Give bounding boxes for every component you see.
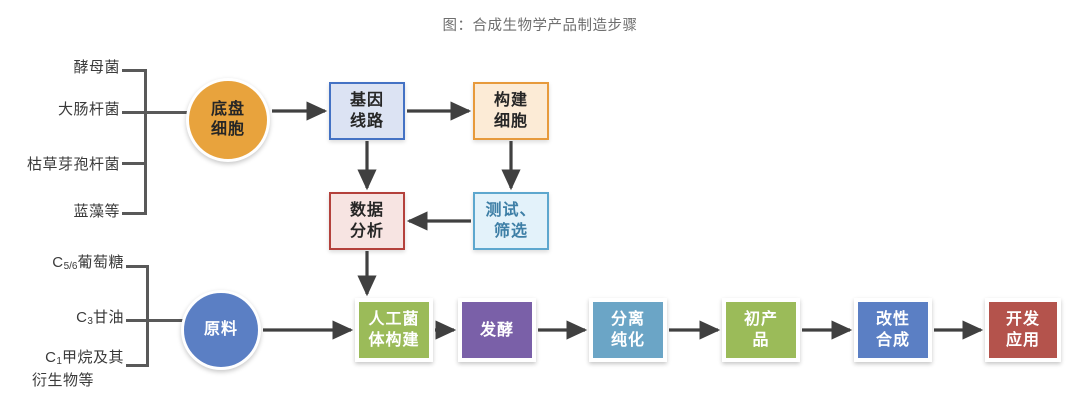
node-modification[interactable]: 改性 合成 — [854, 298, 932, 362]
input-label-text: 酵母菌 — [73, 59, 120, 76]
input-label-yeast: 酵母菌 — [10, 58, 120, 77]
node-label-line2: 体构建 — [368, 330, 419, 351]
node-label-line1: 分离 — [611, 309, 645, 330]
node-label-line2: 细胞 — [494, 111, 528, 132]
input-label-text: 枯草芽孢杆菌 — [27, 156, 120, 173]
node-gene-circuit[interactable]: 基因 线路 — [329, 82, 405, 140]
bracket-spine-cells — [144, 69, 147, 215]
node-label: 发酵 — [480, 320, 514, 341]
node-label-line2: 应用 — [1006, 330, 1040, 351]
node-label-line1: 初产 — [744, 309, 778, 330]
input-label-prefix: C — [76, 309, 87, 326]
input-label-text-line2: 衍生物等 — [32, 372, 94, 389]
node-label-line2: 细胞 — [211, 120, 245, 140]
node-label-line1: 基因 — [350, 90, 384, 111]
node-label-line2: 线路 — [350, 111, 384, 132]
bracket-trunk-cells — [144, 111, 189, 114]
input-label-glucose: C5/6葡萄糖 — [12, 253, 124, 276]
node-label-line2: 纯化 — [611, 330, 645, 351]
page-title: 图：合成生物学产品制造步骤 — [0, 14, 1080, 35]
bracket-spine-feedstock — [146, 265, 149, 367]
node-separation[interactable]: 分离 纯化 — [589, 298, 667, 362]
node-label-line1: 数据 — [350, 200, 384, 221]
node-label-line1: 底盘 — [211, 100, 245, 120]
node-build-cell[interactable]: 构建 细胞 — [473, 82, 549, 140]
node-label-line2: 筛选 — [485, 221, 536, 242]
node-label-line2: 分析 — [350, 221, 384, 242]
diagram-canvas: 图：合成生物学产品制造步骤 酵母菌 大肠杆菌 枯草芽孢杆菌 蓝藻等 C5/6葡萄… — [0, 0, 1080, 406]
node-artificial-build[interactable]: 人工菌 体构建 — [355, 298, 433, 362]
input-label-text: 蓝藻等 — [73, 203, 120, 220]
node-label-line1: 人工菌 — [368, 309, 419, 330]
node-label-line1: 开发 — [1006, 309, 1040, 330]
node-fermentation[interactable]: 发酵 — [458, 298, 536, 362]
node-label-line1: 构建 — [494, 90, 528, 111]
input-label-subscript: 5/6 — [64, 261, 78, 272]
node-label-line1: 改性 — [876, 309, 910, 330]
input-label-methane: C1甲烷及其 衍生物等 — [2, 348, 124, 390]
node-label-line2: 合成 — [876, 330, 910, 351]
node-raw-material[interactable]: 原料 — [181, 290, 261, 370]
input-label-text: 葡萄糖 — [77, 254, 124, 271]
input-label-prefix: C — [52, 254, 63, 271]
input-label-prefix: C — [45, 349, 56, 366]
node-primary-product[interactable]: 初产 品 — [722, 298, 800, 362]
node-development[interactable]: 开发 应用 — [985, 298, 1061, 362]
node-data-analysis[interactable]: 数据 分析 — [329, 192, 405, 250]
node-label: 原料 — [204, 320, 238, 340]
bracket-trunk-feedstock — [146, 319, 184, 322]
input-label-text: 甲烷及其 — [62, 349, 124, 366]
input-label-ecoli: 大肠杆菌 — [10, 100, 120, 119]
input-label-bsubtilis: 枯草芽孢杆菌 — [0, 155, 120, 174]
node-label-line2: 品 — [744, 330, 778, 351]
input-label-glycerol: C3甘油 — [12, 308, 124, 331]
input-label-cyanobacteria: 蓝藻等 — [10, 202, 120, 221]
node-label-line1: 测试、 — [485, 200, 536, 221]
input-label-text: 甘油 — [93, 309, 124, 326]
node-test-screen[interactable]: 测试、 筛选 — [473, 192, 549, 250]
node-chassis-cell[interactable]: 底盘 细胞 — [186, 78, 270, 162]
input-label-text: 大肠杆菌 — [58, 101, 120, 118]
